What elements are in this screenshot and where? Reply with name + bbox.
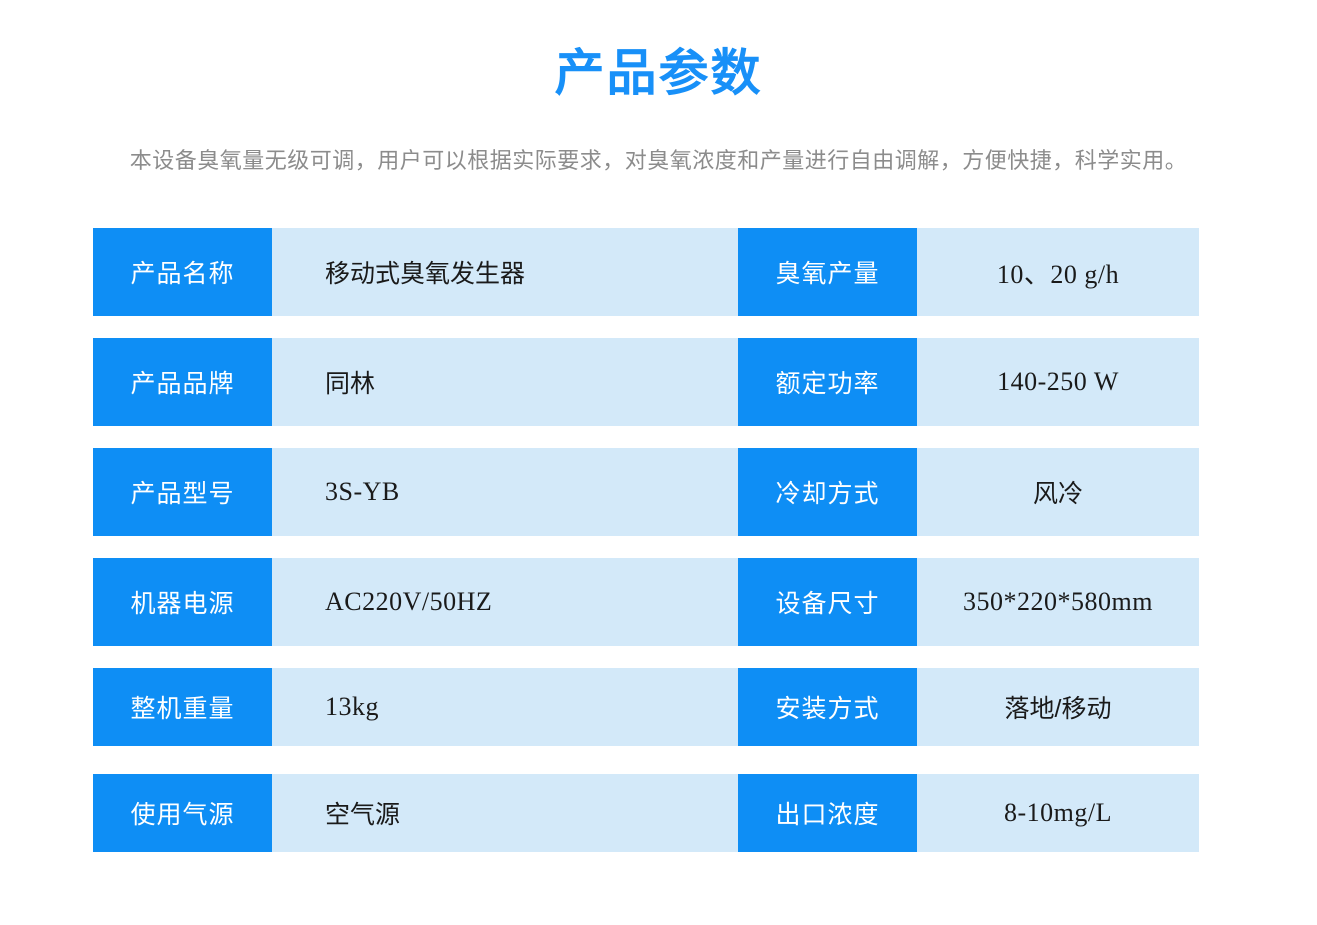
spec-value-rated-power: 140-250 W: [917, 338, 1199, 426]
spec-value-model: 3S-YB: [272, 448, 738, 536]
spec-label-outlet-concentration: 出口浓度: [738, 774, 917, 852]
page-title: 产品参数: [0, 42, 1317, 104]
spec-label-rated-power: 额定功率: [738, 338, 917, 426]
spec-label-power-supply: 机器电源: [93, 558, 272, 646]
spec-table: 产品名称 移动式臭氧发生器 臭氧产量 10、20 g/h 产品品牌 同林 额定功…: [93, 228, 1199, 852]
spec-label-cooling-method: 冷却方式: [738, 448, 917, 536]
table-row: 产品品牌 同林 额定功率 140-250 W: [93, 338, 1199, 426]
spec-value-brand: 同林: [272, 338, 738, 426]
spec-value-gas-source: 空气源: [272, 774, 738, 852]
spec-label-product-name: 产品名称: [93, 228, 272, 316]
table-row: 机器电源 AC220V/50HZ 设备尺寸 350*220*580mm: [93, 558, 1199, 646]
spec-label-installation: 安装方式: [738, 668, 917, 746]
spec-value-outlet-concentration: 8-10mg/L: [917, 774, 1199, 852]
table-row: 使用气源 空气源 出口浓度 8-10mg/L: [93, 774, 1199, 852]
spec-label-weight: 整机重量: [93, 668, 272, 746]
spec-label-gas-source: 使用气源: [93, 774, 272, 852]
page-subtitle: 本设备臭氧量无级可调，用户可以根据实际要求，对臭氧浓度和产量进行自由调解，方便快…: [0, 144, 1317, 178]
table-row: 整机重量 13kg 安装方式 落地/移动: [93, 668, 1199, 746]
spec-value-dimensions: 350*220*580mm: [917, 558, 1199, 646]
spec-label-ozone-output: 臭氧产量: [738, 228, 917, 316]
table-row: 产品名称 移动式臭氧发生器 臭氧产量 10、20 g/h: [93, 228, 1199, 316]
product-spec-page: 产品参数 本设备臭氧量无级可调，用户可以根据实际要求，对臭氧浓度和产量进行自由调…: [0, 0, 1317, 925]
spec-label-model: 产品型号: [93, 448, 272, 536]
spec-label-dimensions: 设备尺寸: [738, 558, 917, 646]
spec-value-installation: 落地/移动: [917, 668, 1199, 746]
spec-value-weight: 13kg: [272, 668, 738, 746]
spec-value-product-name: 移动式臭氧发生器: [272, 228, 738, 316]
spec-value-power-supply: AC220V/50HZ: [272, 558, 738, 646]
table-row: 产品型号 3S-YB 冷却方式 风冷: [93, 448, 1199, 536]
spec-value-cooling-method: 风冷: [917, 448, 1199, 536]
spec-label-brand: 产品品牌: [93, 338, 272, 426]
spec-value-ozone-output: 10、20 g/h: [917, 228, 1199, 316]
